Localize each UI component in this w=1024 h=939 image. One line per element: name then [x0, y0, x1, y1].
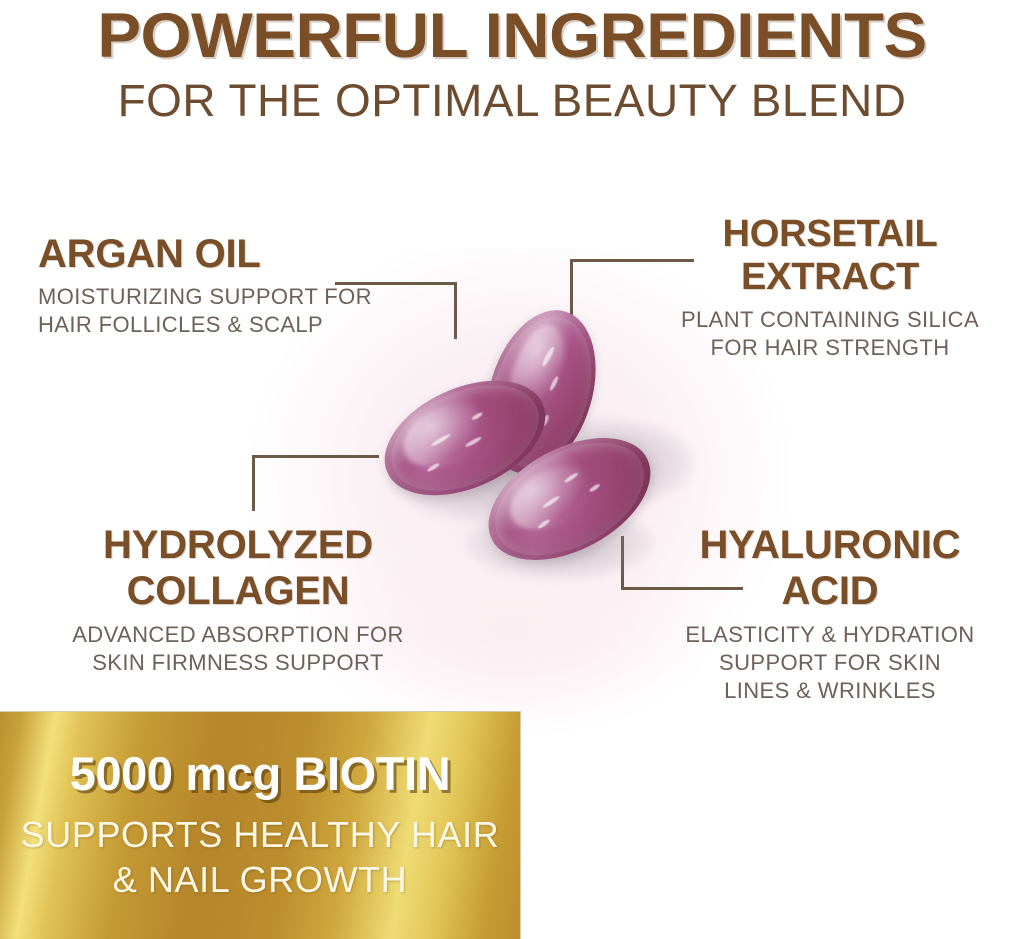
ingredient-title-hyaluronic-acid: HYALURONIC ACID	[640, 522, 1020, 614]
ingredient-description-hydrolyzed-collagen: ADVANCED ABSORPTION FOR SKIN FIRMNESS SU…	[28, 621, 448, 677]
description-line: SUPPORT FOR SKIN	[640, 649, 1020, 677]
title-line: HORSETAIL	[640, 213, 1020, 256]
description-line: LINES & WRINKLES	[640, 677, 1020, 705]
biotin-benefit-line-1: SUPPORTS HEALTHY HAIR	[0, 812, 520, 857]
ingredient-description-horsetail-extract: PLANT CONTAINING SILICA FOR HAIR STRENGT…	[640, 306, 1020, 362]
ingredient-horsetail-extract: HORSETAIL EXTRACT PLANT CONTAINING SILIC…	[640, 213, 1020, 362]
biotin-banner-content: 5000 mcg BIOTIN SUPPORTS HEALTHY HAIR & …	[0, 712, 520, 939]
ingredient-title-argan-oil: ARGAN OIL	[38, 233, 438, 276]
ingredient-title-horsetail-extract: HORSETAIL EXTRACT	[640, 213, 1020, 299]
title-line: HYDROLYZED	[28, 522, 448, 568]
title-line: HYALURONIC	[640, 522, 1020, 568]
leader-line-collagen-horizontal	[252, 455, 379, 458]
biotin-banner: 5000 mcg BIOTIN SUPPORTS HEALTHY HAIR & …	[0, 712, 520, 939]
ingredient-title-hydrolyzed-collagen: HYDROLYZED COLLAGEN	[28, 522, 448, 614]
biotin-dose-label: 5000 mcg BIOTIN	[0, 748, 520, 800]
description-line: SKIN FIRMNESS SUPPORT	[28, 649, 448, 677]
leader-line-collagen-vertical	[252, 455, 255, 511]
ingredient-description-argan-oil: MOISTURIZING SUPPORT FOR HAIR FOLLICLES …	[38, 283, 438, 339]
ingredient-description-hyaluronic-acid: ELASTICITY & HYDRATION SUPPORT FOR SKIN …	[640, 621, 1020, 705]
title-line: EXTRACT	[640, 256, 1020, 299]
description-line: ELASTICITY & HYDRATION	[640, 621, 1020, 649]
title-line: ACID	[640, 568, 1020, 614]
description-line: MOISTURIZING SUPPORT FOR	[38, 283, 438, 311]
description-line: ADVANCED ABSORPTION FOR	[28, 621, 448, 649]
ingredient-hydrolyzed-collagen: HYDROLYZED COLLAGEN ADVANCED ABSORPTION …	[28, 522, 448, 677]
page-title: POWERFUL INGREDIENTS	[0, 2, 1024, 70]
description-line: FOR HAIR STRENGTH	[640, 334, 1020, 362]
description-line: PLANT CONTAINING SILICA	[640, 306, 1020, 334]
ingredient-hyaluronic-acid: HYALURONIC ACID ELASTICITY & HYDRATION S…	[640, 522, 1020, 705]
biotin-benefit-line-2: & NAIL GROWTH	[0, 857, 520, 902]
page-subtitle: FOR THE OPTIMAL BEAUTY BLEND	[0, 76, 1024, 126]
description-line: HAIR FOLLICLES & SCALP	[38, 311, 438, 339]
title-line: COLLAGEN	[28, 568, 448, 614]
ingredient-argan-oil: ARGAN OIL MOISTURIZING SUPPORT FOR HAIR …	[38, 233, 438, 339]
infographic-canvas: POWERFUL INGREDIENTS FOR THE OPTIMAL BEA…	[0, 0, 1024, 939]
